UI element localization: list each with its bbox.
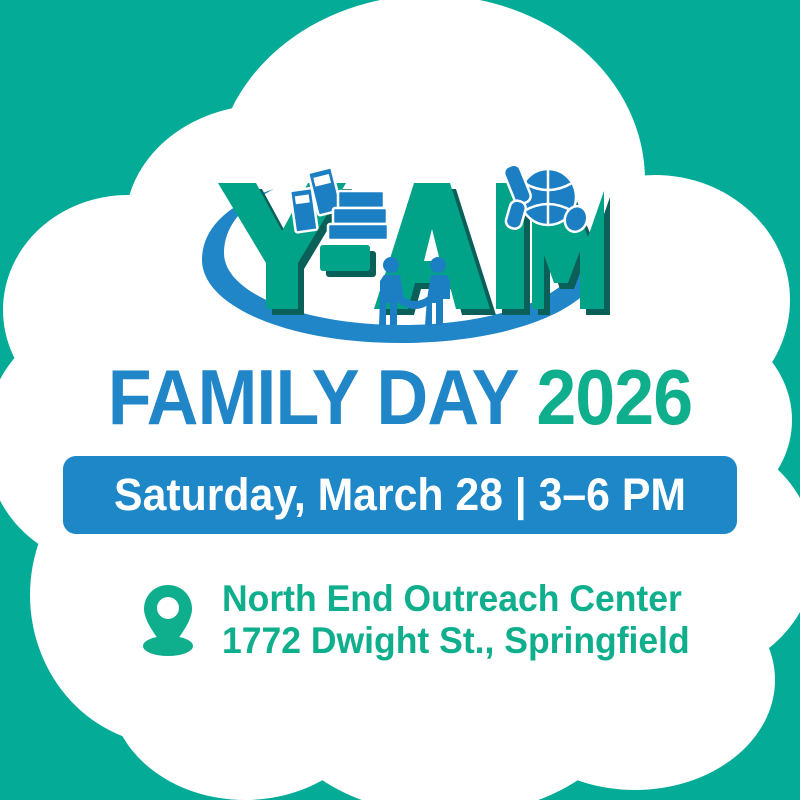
event-flyer: FAMILY DAY 2026 Saturday, March 28 | 3–6… (0, 0, 800, 800)
y-aim-logo (190, 165, 610, 350)
sports-equipment-icon (502, 165, 591, 235)
headline-year: 2026 (536, 353, 692, 441)
location-block: North End Outreach Center 1772 Dwight St… (140, 578, 700, 662)
map-pin-icon (140, 583, 196, 657)
book-stack-icon (290, 167, 388, 240)
headline-main: FAMILY DAY (108, 353, 518, 441)
y-aim-logo-graphic (190, 165, 610, 350)
logo-letter-dash (320, 245, 370, 271)
headline: FAMILY DAY 2026 (32, 358, 768, 436)
location-venue: North End Outreach Center (222, 578, 690, 620)
date-banner: Saturday, March 28 | 3–6 PM (63, 456, 737, 534)
location-text: North End Outreach Center 1772 Dwight St… (222, 578, 709, 662)
location-address: 1772 Dwight St., Springfield (222, 620, 690, 662)
date-banner-text: Saturday, March 28 | 3–6 PM (114, 469, 686, 521)
